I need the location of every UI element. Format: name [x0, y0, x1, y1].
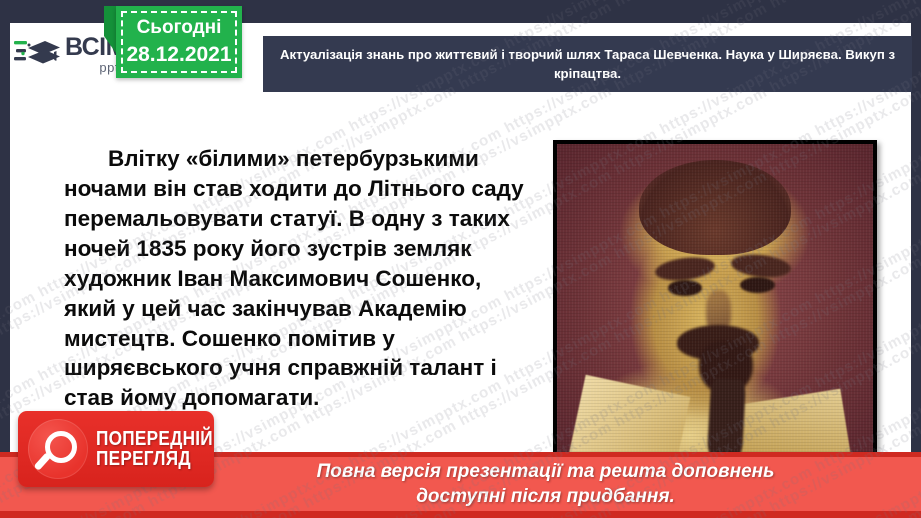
today-date-badge: Сьогодні 28.12.2021 — [116, 6, 242, 78]
slide-body-paragraph: Влітку «білими» петербурзькими ночами ві… — [64, 144, 534, 413]
today-label: Сьогодні — [137, 17, 222, 39]
purchase-notice-line1: Повна версія презентації та решта доповн… — [317, 461, 775, 482]
preview-badge[interactable]: ПОПЕРЕДНІЙ ПЕРЕГЛЯД — [18, 411, 214, 487]
today-badge-content: Сьогодні 28.12.2021 — [116, 6, 242, 78]
portrait-grain-overlay — [557, 144, 873, 461]
purchase-notice-text: Повна версія презентації та решта доповн… — [147, 460, 775, 509]
purchase-notice-line2: доступні після придбання. — [416, 486, 675, 507]
portrait-image — [557, 144, 873, 461]
today-date: 28.12.2021 — [126, 43, 231, 67]
preview-badge-text: ПОПЕРЕДНІЙ ПЕРЕГЛЯД — [96, 429, 232, 470]
portrait-frame — [553, 140, 877, 465]
magnifier-icon — [28, 419, 88, 479]
slide-header-bar: Актуалізація знань про життєвий і творчи… — [263, 36, 912, 92]
magnifier-handle — [34, 452, 52, 471]
slide-title: Актуалізація знань про життєвий і творчи… — [263, 45, 912, 83]
graduation-cap-icon — [14, 36, 60, 72]
presentation-slide: ВСІМ pptx Сьогодні 28.12.2021 Актуалізац… — [0, 0, 921, 518]
preview-label-line1: ПОПЕРЕДНІЙ — [96, 429, 213, 449]
preview-label-line2: ПЕРЕГЛЯД — [96, 449, 213, 469]
